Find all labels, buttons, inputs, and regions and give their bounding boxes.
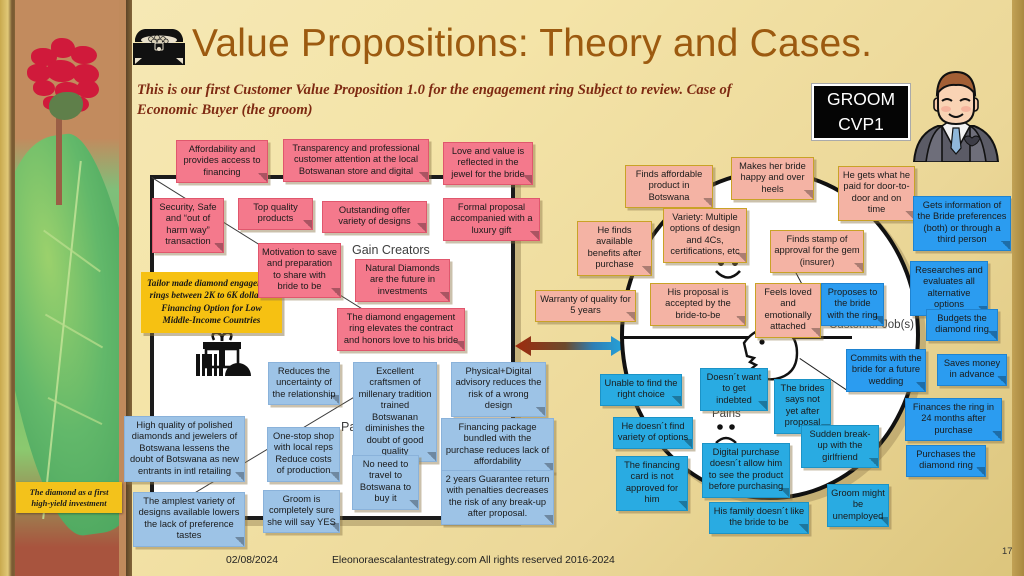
- card-fold-corner: [419, 172, 428, 181]
- customer-pain-card[interactable]: Sudden break-up with the girlfriend: [801, 425, 879, 468]
- barcode-product-icon: [196, 352, 254, 378]
- customer-job-card[interactable]: Commits with the bride for a future wedd…: [846, 349, 926, 392]
- card-fold-corner: [879, 517, 888, 526]
- pain-reliever-card[interactable]: One-stop shop with local reps Reduce cos…: [267, 427, 340, 482]
- pain-reliever-card[interactable]: High quality of polished diamonds and je…: [124, 416, 245, 482]
- treasure-chest-icon: [131, 25, 187, 67]
- card-fold-corner: [976, 467, 985, 476]
- customer-job-card[interactable]: Proposes to the bride with the ring: [821, 283, 884, 326]
- card-fold-corner: [736, 316, 745, 325]
- card-fold-corner: [672, 396, 681, 405]
- card-fold-corner: [409, 500, 418, 509]
- pain-reliever-card[interactable]: Reduces the uncertainty of the relations…: [268, 362, 340, 405]
- pain-reliever-card[interactable]: Physical+Digital advisory reduces the ri…: [451, 362, 546, 417]
- card-fold-corner: [1001, 241, 1010, 250]
- card-fold-corner: [992, 431, 1001, 440]
- customer-pain-card[interactable]: Doesn´t want to get indebted: [700, 368, 768, 411]
- customer-job-card[interactable]: Budgets the diamond ring: [926, 309, 998, 341]
- card-fold-corner: [330, 395, 339, 404]
- customer-gain-card[interactable]: Finds stamp of approval for the gem (ins…: [770, 230, 864, 273]
- customer-job-card[interactable]: Researches and evaluates all alternative…: [910, 261, 988, 316]
- badge-line-2: CVP1: [838, 112, 884, 137]
- pain-reliever-card[interactable]: 2 years Guarantee return with penalties …: [441, 470, 554, 525]
- customer-job-card[interactable]: Finances the ring in 24 months after pur…: [905, 398, 1002, 441]
- card-fold-corner: [758, 401, 767, 410]
- card-fold-corner: [544, 515, 553, 524]
- card-fold-corner: [683, 439, 692, 448]
- card-fold-corner: [530, 231, 539, 240]
- gain-creator-card[interactable]: Natural Diamonds are the future in inves…: [355, 259, 450, 302]
- red-flower-shape: [23, 30, 113, 150]
- page-subtitle: This is our first Customer Value Proposi…: [137, 80, 777, 120]
- card-fold-corner: [988, 331, 997, 340]
- customer-job-card[interactable]: Purchases the diamond ring: [906, 445, 986, 477]
- pain-reliever-card[interactable]: Excellent craftsmen of millenary traditi…: [353, 362, 437, 462]
- card-fold-corner: [854, 263, 863, 272]
- customer-pain-card[interactable]: His family doesn´t like the bride to be: [709, 502, 809, 534]
- customer-gain-card[interactable]: He gets what he paid for door-to-door an…: [838, 166, 915, 221]
- pain-reliever-card[interactable]: The amplest variety of designs available…: [133, 492, 245, 547]
- customer-pain-card[interactable]: Unable to find the right choice: [600, 374, 682, 406]
- customer-job-card[interactable]: Saves money in advance: [937, 354, 1007, 386]
- gain-creator-card[interactable]: Top quality products: [238, 198, 313, 230]
- badge-line-1: GROOM: [827, 87, 895, 112]
- footer-copyright: Eleonoraescalantestrategy.com All rights…: [332, 555, 615, 566]
- customer-gain-card[interactable]: Finds affordable product in Botswana: [625, 165, 713, 208]
- customer-pain-card[interactable]: Digital purchase doesn´t allow him to se…: [702, 443, 790, 498]
- gain-creator-card[interactable]: Transparency and professional customer a…: [283, 139, 429, 182]
- customer-gain-card[interactable]: Feels loved and emotionally attached: [755, 283, 821, 338]
- card-fold-corner: [916, 382, 925, 391]
- card-fold-corner: [642, 266, 651, 275]
- customer-gain-card[interactable]: Warranty of quality for 5 years: [535, 290, 636, 322]
- fit-double-arrow-icon: [515, 332, 627, 360]
- card-fold-corner: [523, 175, 532, 184]
- right-edge-band: [1012, 0, 1024, 576]
- card-fold-corner: [874, 316, 883, 325]
- card-fold-corner: [235, 472, 244, 481]
- card-fold-corner: [780, 488, 789, 497]
- groom-avatar-icon: [908, 66, 1004, 162]
- card-fold-corner: [214, 243, 223, 252]
- pain-reliever-card[interactable]: Financing package bundled with the purch…: [441, 418, 554, 473]
- customer-pain-card[interactable]: He doesn´t find variety of options: [613, 417, 693, 449]
- card-fold-corner: [799, 524, 808, 533]
- pain-reliever-card[interactable]: Groom is completely sure she will say YE…: [263, 490, 340, 533]
- gain-creator-card[interactable]: Formal proposal accompanied with a luxur…: [443, 198, 540, 241]
- footer-date: 02/08/2024: [226, 555, 278, 566]
- gain-creator-card[interactable]: Affordability and provides access to fin…: [176, 140, 268, 183]
- card-fold-corner: [455, 341, 464, 350]
- card-fold-corner: [703, 198, 712, 207]
- customer-gain-card[interactable]: He finds available benefits after purcha…: [577, 221, 652, 276]
- customer-gain-card[interactable]: His proposal is accepted by the bride-to…: [650, 283, 746, 326]
- card-fold-corner: [235, 537, 244, 546]
- card-fold-corner: [258, 173, 267, 182]
- card-fold-corner: [737, 253, 746, 262]
- leaf-shape: [15, 128, 119, 543]
- card-fold-corner: [626, 312, 635, 321]
- card-fold-corner: [303, 220, 312, 229]
- page-title: Value Propositions: Theory and Cases.: [192, 22, 872, 66]
- customer-gain-card[interactable]: Variety: Multiple options of design and …: [663, 208, 747, 263]
- pain-reliever-card[interactable]: No need to travel to Botswana to buy it: [352, 455, 419, 510]
- strip-highlight-label: The diamond as a first high-yield invest…: [16, 482, 122, 513]
- groom-cvp-badge: GROOM CVP1: [812, 84, 910, 140]
- gain-creator-card[interactable]: Love and value is reflected in the jewel…: [443, 142, 533, 185]
- customer-job-card[interactable]: Gets information of the Bride preference…: [913, 196, 1011, 251]
- card-fold-corner: [869, 458, 878, 467]
- strip-edge-divider: [126, 0, 132, 576]
- customer-gain-card[interactable]: Makes her bride happy and over heels: [731, 157, 814, 200]
- card-fold-corner: [678, 501, 687, 510]
- gain-creator-card[interactable]: Motivation to save and preparation to sh…: [258, 243, 341, 298]
- gain-creator-card[interactable]: Security, Safe and “out of harm way” tra…: [152, 198, 224, 253]
- card-fold-corner: [331, 288, 340, 297]
- card-fold-corner: [440, 292, 449, 301]
- card-fold-corner: [330, 472, 339, 481]
- page-number: 17: [1002, 545, 1012, 556]
- card-fold-corner: [536, 407, 545, 416]
- card-fold-corner: [330, 523, 339, 532]
- customer-pain-card[interactable]: The financing card is not approved for h…: [616, 456, 688, 511]
- gain-creator-card[interactable]: The diamond engagement ring elevates the…: [337, 308, 465, 351]
- card-fold-corner: [427, 452, 436, 461]
- customer-pain-card[interactable]: Groom might be unemployed: [827, 484, 889, 527]
- slide-canvas: The diamond as a first high-yield invest…: [0, 0, 1024, 576]
- left-decorative-strip: The diamond as a first high-yield invest…: [0, 0, 132, 576]
- card-fold-corner: [997, 376, 1006, 385]
- label-gain-creators: Gain Creators: [352, 243, 430, 257]
- card-fold-corner: [417, 223, 426, 232]
- card-fold-corner: [811, 328, 820, 337]
- flower-leaf: [49, 92, 83, 120]
- card-fold-corner: [804, 190, 813, 199]
- gain-creator-card[interactable]: Outstanding offer variety of designs: [322, 201, 427, 233]
